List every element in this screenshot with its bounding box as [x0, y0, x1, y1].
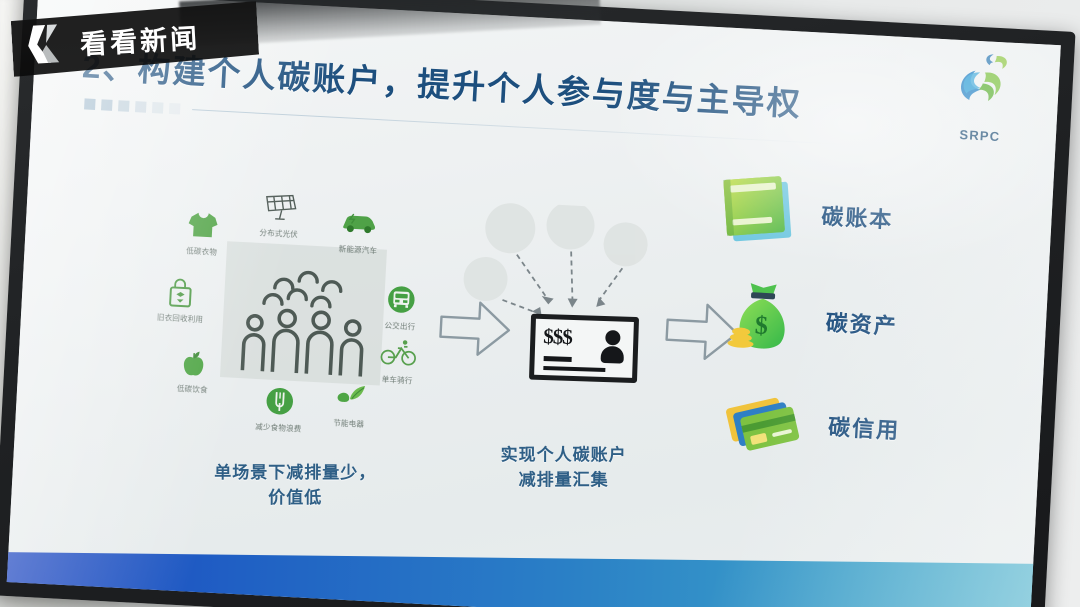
- food-waste-icon: [242, 384, 318, 422]
- low-carbon-behaviour-cluster: 低碳衣物: [145, 175, 458, 451]
- outcome-label: 碳信用: [827, 409, 901, 445]
- icon-public-transport: 公交出行: [363, 283, 439, 334]
- bicycle-icon: [361, 337, 437, 375]
- icon-label: 低碳衣物: [164, 244, 238, 259]
- icon-label: 低碳饮食: [155, 382, 229, 397]
- money-bag-icon: $: [720, 276, 810, 360]
- solar-panel-icon: [242, 190, 318, 228]
- screenshot-stage: 2、构建个人碳账户，提升个人参与度与主导权: [0, 0, 1080, 607]
- icon-new-energy-vehicle: 新能源汽车: [321, 206, 397, 257]
- icon-low-carbon-clothing: 低碳衣物: [164, 208, 240, 259]
- icon-label: 节能电器: [311, 416, 385, 431]
- credit-cards-icon: [722, 380, 812, 464]
- icon-energy-saving-appliance: 节能电器: [311, 380, 387, 431]
- card-line-1: [544, 356, 572, 362]
- icon-low-carbon-diet: 低碳饮食: [155, 346, 231, 397]
- icon-label: 旧衣回收利用: [143, 311, 217, 326]
- card-line-2: [543, 366, 605, 372]
- display-monitor: 2、构建个人碳账户，提升个人参与度与主导权: [0, 0, 1080, 607]
- electric-car-icon: [321, 206, 397, 244]
- bus-icon: [363, 283, 439, 321]
- watermark-text: 看看新闻: [79, 16, 201, 62]
- faded-bubble-icon: [484, 202, 537, 255]
- card-avatar-body: [601, 346, 625, 364]
- knews-k-logo: [23, 20, 71, 68]
- outcome-label: 碳资产: [825, 305, 899, 341]
- outcome-label: 碳账本: [821, 199, 895, 235]
- t-shirt-icon: [165, 208, 241, 246]
- energy-leaf-icon: [312, 380, 388, 418]
- srpc-logo: SRPC: [931, 47, 1032, 148]
- carbon-ledger-book-icon: [715, 169, 805, 253]
- faded-bubble-icon: [602, 221, 648, 267]
- carbon-account-card-icon: $$$: [529, 314, 639, 383]
- monitor-screen: 2、构建个人碳账户，提升个人参与度与主导权: [7, 0, 1061, 607]
- crowd-people-icon: [226, 252, 382, 380]
- icon-clothing-recycling: 旧衣回收利用: [143, 275, 219, 326]
- faded-bubble-icon: [545, 200, 595, 250]
- icon-label: 分布式光伏: [241, 226, 315, 241]
- card-avatar-head: [605, 330, 620, 345]
- caption-single-scenario: 单场景下减排量少， 价值低: [180, 461, 410, 510]
- outcome-carbon-asset: $: [720, 276, 900, 365]
- outcome-carbon-ledger: 碳账本: [715, 169, 895, 258]
- caption-aggregate: 实现个人碳账户 减排量汇集: [454, 443, 674, 492]
- icon-distributed-pv: 分布式光伏: [241, 190, 317, 241]
- icon-bike-riding: 单车骑行: [360, 337, 436, 388]
- apple-icon: [156, 346, 232, 384]
- presentation-slide: 2、构建个人碳账户，提升个人参与度与主导权: [7, 0, 1061, 607]
- icon-label: 减少食物浪费: [241, 420, 315, 435]
- card-value: $$$: [543, 324, 572, 350]
- outcome-carbon-credit: 碳信用: [722, 380, 902, 469]
- icon-reduce-food-waste: 减少食物浪费: [241, 384, 317, 435]
- svg-text:$: $: [754, 310, 769, 340]
- recycle-bag-icon: [143, 275, 219, 313]
- faded-bubble-icon: [462, 256, 508, 302]
